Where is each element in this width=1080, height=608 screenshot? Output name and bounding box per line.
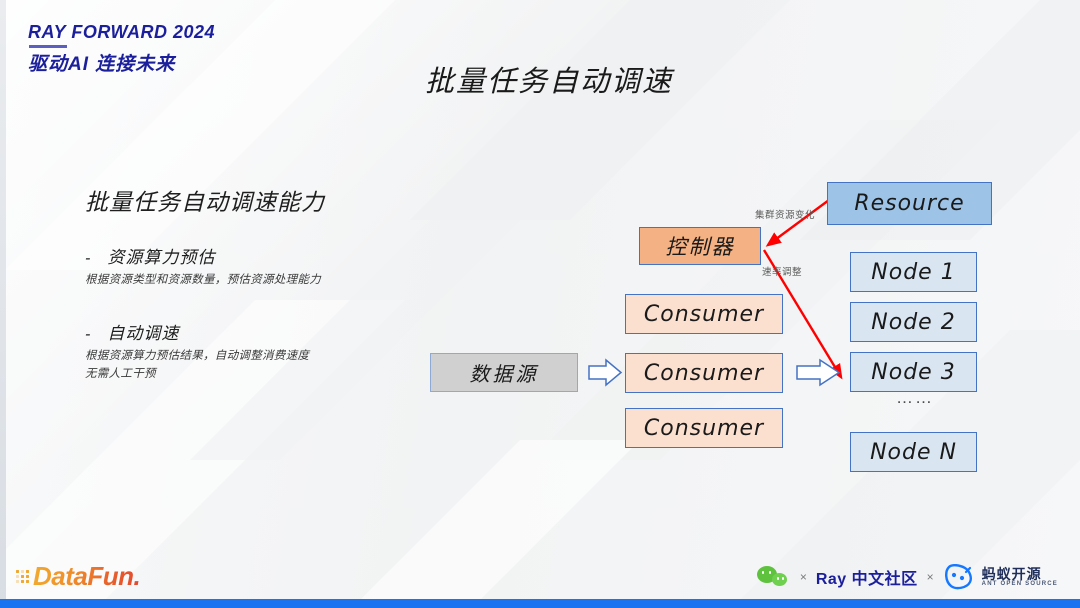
consumer-box-3[interactable]: Consumer (625, 408, 783, 448)
background-chevron (320, 440, 640, 608)
footer-partner-logos: × Ray 中文社区 × 蚂蚁开源 ANT OPEN SOURCE (757, 564, 1058, 590)
wechat-icon (757, 565, 791, 589)
bullet-title: 资源算力预估 (107, 243, 215, 268)
ant-open-source-icon (943, 564, 973, 590)
data-source-box[interactable]: 数据源 (430, 353, 578, 392)
footer-accent-bar (0, 599, 1080, 608)
consumer-box-label: Consumer (644, 361, 764, 386)
bullet-title: 自动调速 (107, 319, 179, 344)
consumer-box-label: Consumer (644, 416, 764, 441)
consumer-box-2[interactable]: Consumer (625, 353, 783, 393)
block-arrow-consumer-to-node (797, 360, 839, 385)
controller-box[interactable]: 控制器 (639, 227, 761, 265)
left-accent-stripe (0, 0, 6, 608)
ant-open-source-cn: 蚂蚁开源 (982, 567, 1058, 582)
edge-label-cluster-change: 集群资源变化 (755, 207, 815, 221)
ant-open-source-text: 蚂蚁开源 ANT OPEN SOURCE (982, 567, 1058, 588)
page-title: 批量任务自动调速 (425, 58, 673, 100)
brand-line-1: RAY FORWARD 2024 (28, 22, 215, 43)
node-box-label: Node N (870, 440, 957, 465)
datafun-logo: DataFun. (16, 561, 140, 592)
node-box-label: Node 2 (871, 310, 955, 335)
bullet-heading-row: - 资源算力预估 (85, 243, 415, 268)
brand-divider (29, 45, 67, 48)
separator-x-2: × (927, 570, 934, 584)
node-box-1[interactable]: Node 1 (850, 252, 977, 292)
ant-open-source-en: ANT OPEN SOURCE (982, 581, 1058, 587)
node-ellipsis: …… (880, 388, 950, 408)
separator-x-1: × (800, 570, 807, 584)
section-heading: 批量任务自动调速能力 (85, 183, 415, 217)
node-box-3[interactable]: Node 3 (850, 352, 977, 392)
node-box-label: Node 3 (871, 360, 955, 385)
bullet-item: - 资源算力预估 根据资源类型和资源数量，预估资源处理能力 (85, 243, 415, 289)
bullet-dash: - (85, 250, 91, 268)
bullet-item: - 自动调速 根据资源算力预估结果，自动调整消费速度 无需人工干预 (85, 319, 415, 383)
datafun-wordmark: DataFun. (33, 561, 140, 592)
brand-lockup: RAY FORWARD 2024 驱动AI 连接未来 (28, 22, 215, 76)
node-box-label: Node 1 (871, 260, 955, 285)
datafun-dots-icon (16, 570, 29, 583)
bullet-description: 根据资源类型和资源数量，预估资源处理能力 (85, 272, 415, 289)
consumer-box-1[interactable]: Consumer (625, 294, 783, 334)
ray-community-label: Ray 中文社区 (816, 565, 918, 589)
consumer-box-label: Consumer (644, 302, 764, 327)
bullet-dash: - (85, 326, 91, 344)
node-box-2[interactable]: Node 2 (850, 302, 977, 342)
bullet-heading-row: - 自动调速 (85, 319, 415, 344)
controller-box-label: 控制器 (666, 231, 735, 261)
resource-box[interactable]: Resource (827, 182, 992, 225)
brand-line-2: 驱动AI 连接未来 (28, 49, 215, 76)
resource-box-label: Resource (854, 191, 964, 216)
data-source-box-label: 数据源 (470, 358, 539, 387)
slide-canvas: RAY FORWARD 2024 驱动AI 连接未来 批量任务自动调速 批量任务… (0, 0, 1080, 608)
bullet-description: 根据资源算力预估结果，自动调整消费速度 无需人工干预 (85, 348, 415, 383)
edge-label-rate-adjust: 速率调整 (762, 264, 802, 278)
left-content-column: 批量任务自动调速能力 - 资源算力预估 根据资源类型和资源数量，预估资源处理能力… (85, 183, 415, 383)
node-box-n[interactable]: Node N (850, 432, 977, 472)
